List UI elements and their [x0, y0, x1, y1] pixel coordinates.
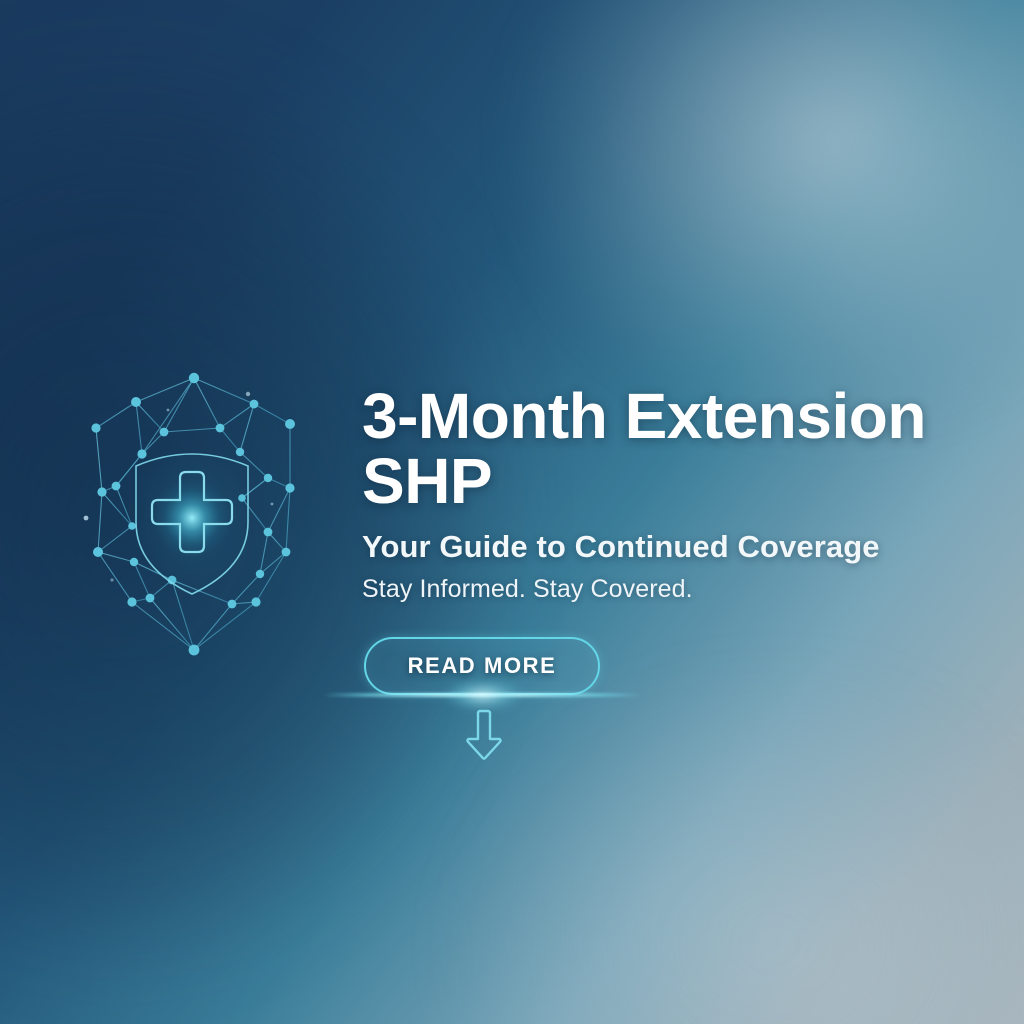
tagline: Stay Informed. Stay Covered. [362, 575, 982, 604]
shield-network-icon [72, 366, 312, 662]
arrow-down-icon[interactable] [464, 707, 504, 763]
background-glow-top-right [524, 0, 1024, 420]
headline: 3-Month Extension SHP [362, 384, 982, 515]
hero-banner: 3-Month Extension SHP Your Guide to Cont… [0, 0, 1024, 1024]
subheadline: Your Guide to Continued Coverage [362, 529, 982, 565]
read-more-button[interactable]: READ MORE [364, 637, 600, 695]
background-glow-bottom-right [464, 684, 1024, 1024]
cross-glow [152, 478, 232, 558]
cta-area: READ MORE [364, 637, 604, 695]
banner-text-block: 3-Month Extension SHP Your Guide to Cont… [362, 384, 982, 604]
